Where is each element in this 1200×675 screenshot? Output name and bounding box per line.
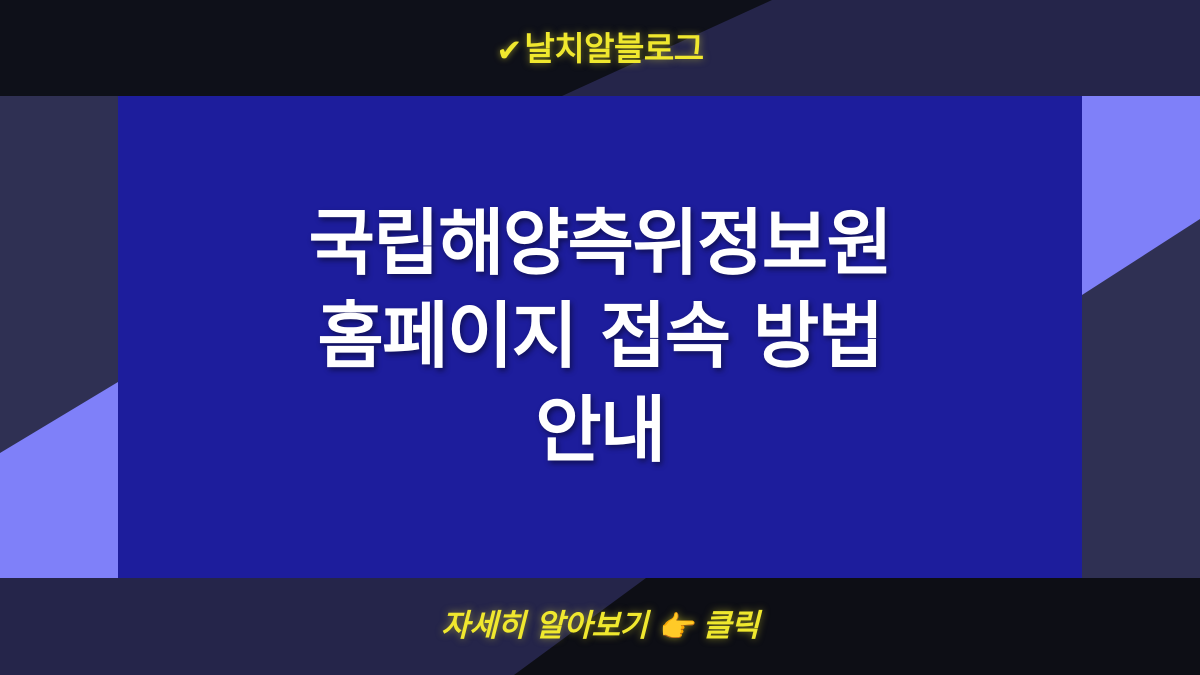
footer-band: [0, 578, 1200, 675]
header-band: [0, 0, 1200, 96]
header-diagonal-wedge: [0, 0, 1200, 96]
thumbnail-canvas: ✔ 날치알블로그 국립해양측위정보원 홈페이지 접속 방법 안내 자세히 알아보…: [0, 0, 1200, 675]
footer-diagonal-wedge: [0, 578, 1200, 675]
main-blue-panel: [118, 96, 1082, 578]
